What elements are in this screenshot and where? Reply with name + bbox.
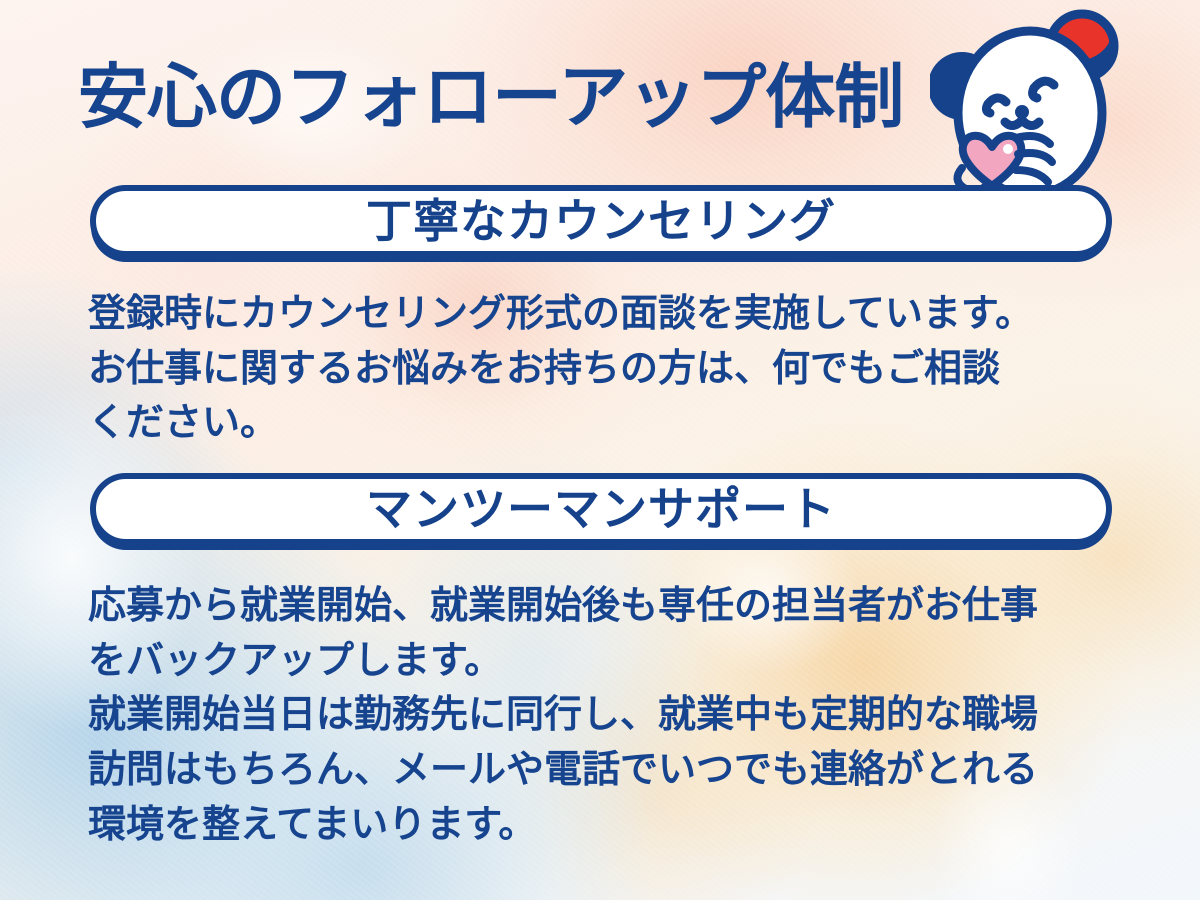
body-line: 登録時にカウンセリング形式の面談を実施しています。 bbox=[88, 286, 1138, 341]
body-line: 環境を整えてまいります。 bbox=[88, 797, 1138, 852]
poster-content: 安心のフォローアップ体制 bbox=[0, 0, 1200, 900]
page-title: 安心のフォローアップ体制 bbox=[78, 62, 903, 132]
body-line: 訪問はもちろん、メールや電話でいつでも連絡がとれる bbox=[88, 742, 1138, 797]
body-line: ください。 bbox=[88, 395, 1138, 450]
section-heading-label: マンツーマンサポート bbox=[366, 486, 836, 532]
section-body-one-to-one-support: 応募から就業開始、就業開始後も専任の担当者がお仕事 をバックアップします。 就業… bbox=[88, 578, 1138, 852]
body-line: 応募から就業開始、就業開始後も専任の担当者がお仕事 bbox=[88, 578, 1138, 633]
mascot-illustration bbox=[930, 8, 1130, 203]
body-line: をバックアップします。 bbox=[88, 633, 1138, 688]
body-line: お仕事に関するお悩みをお持ちの方は、何でもご相談 bbox=[88, 341, 1138, 396]
section-heading-label: 丁寧なカウンセリング bbox=[366, 198, 836, 244]
poster-root: 安心のフォローアップ体制 bbox=[0, 0, 1200, 900]
section-heading-pill-one-to-one-support[interactable]: マンツーマンサポート bbox=[90, 473, 1112, 545]
section-body-counseling: 登録時にカウンセリング形式の面談を実施しています。 お仕事に関するお悩みをお持ち… bbox=[88, 286, 1138, 450]
body-line: 就業開始当日は勤務先に同行し、就業中も定期的な職場 bbox=[88, 687, 1138, 742]
section-heading-pill-counseling[interactable]: 丁寧なカウンセリング bbox=[90, 185, 1112, 257]
